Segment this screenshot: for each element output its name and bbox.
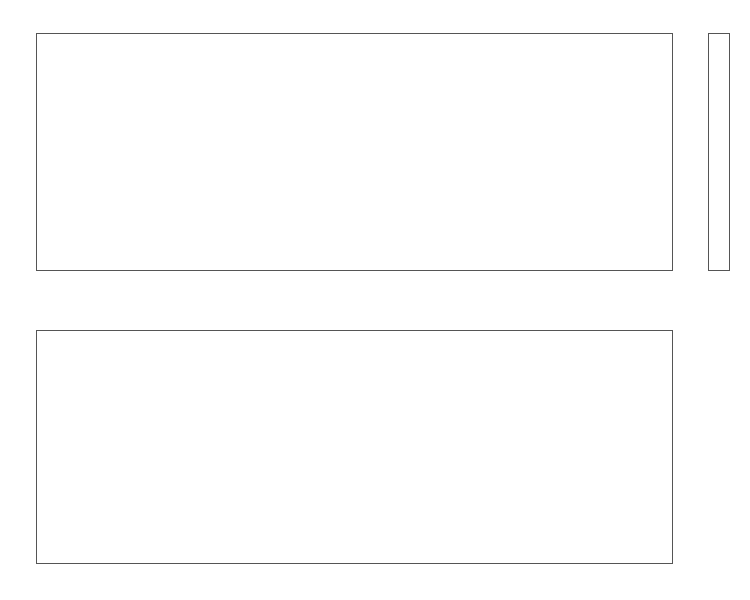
spectrogram-image xyxy=(37,34,672,270)
snr-line-chart xyxy=(37,331,672,563)
colorbar xyxy=(708,33,730,271)
snr-plot-area xyxy=(36,330,673,564)
colorbar-gradient xyxy=(709,34,729,270)
spectrogram-plot-area xyxy=(36,33,673,271)
figure-root xyxy=(0,0,750,600)
